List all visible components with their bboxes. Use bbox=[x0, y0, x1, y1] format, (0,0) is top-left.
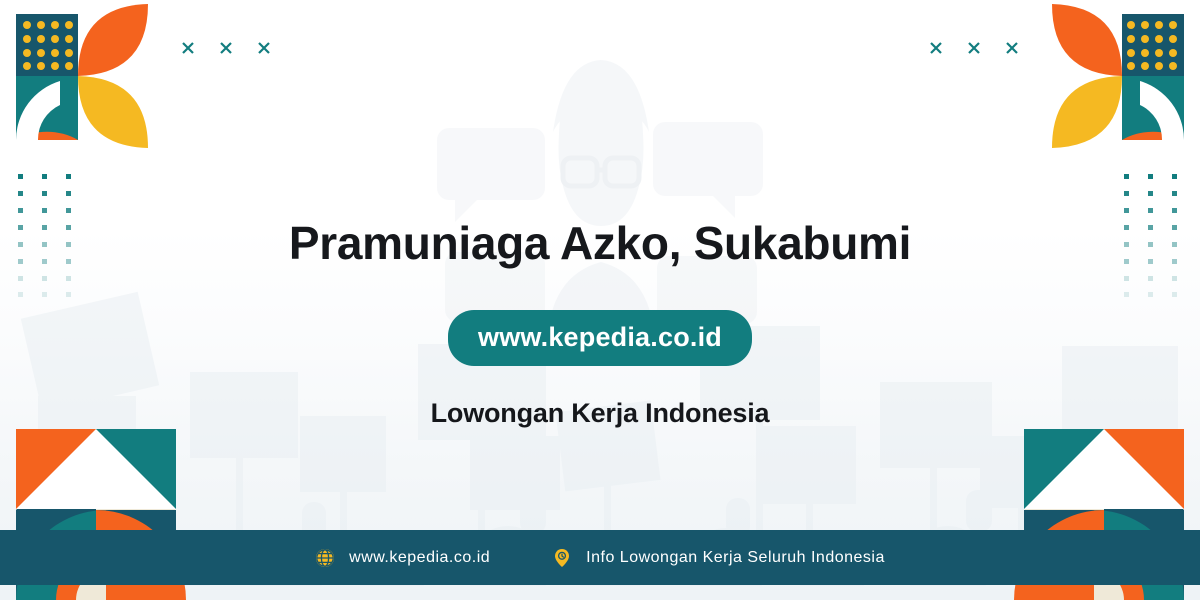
footer-info-item[interactable]: Info Lowongan Kerja Seluruh Indonesia bbox=[552, 548, 885, 568]
page-title: Pramuniaga Azko, Sukabumi bbox=[289, 218, 911, 270]
job-vacancy-banner: Pramuniaga Azko, Sukabumi www.kepedia.co… bbox=[0, 0, 1200, 600]
banner-content: Pramuniaga Azko, Sukabumi www.kepedia.co… bbox=[0, 0, 1200, 429]
website-url-pill[interactable]: www.kepedia.co.id bbox=[448, 310, 752, 366]
footer-info-label: Info Lowongan Kerja Seluruh Indonesia bbox=[586, 549, 885, 567]
footer-website-item[interactable]: www.kepedia.co.id bbox=[315, 548, 490, 568]
footer-website-label: www.kepedia.co.id bbox=[349, 549, 490, 567]
banner-subtitle: Lowongan Kerja Indonesia bbox=[431, 398, 770, 429]
footer-bar: www.kepedia.co.id Info Lowongan Kerja Se… bbox=[0, 530, 1200, 585]
globe-icon bbox=[315, 548, 335, 568]
location-pin-icon bbox=[552, 548, 572, 568]
